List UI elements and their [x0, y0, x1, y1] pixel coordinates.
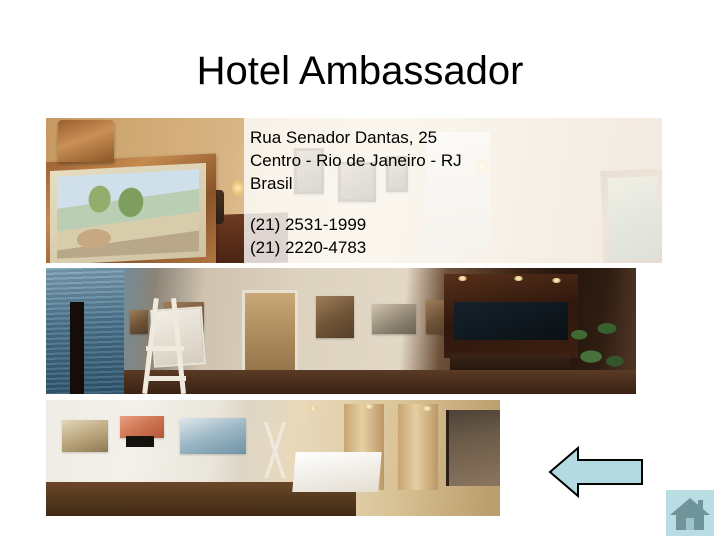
glass-entrance	[446, 410, 500, 486]
address-city: Centro - Rio de Janeiro - RJ	[250, 149, 580, 172]
painting-easel	[142, 298, 216, 394]
home-button[interactable]	[666, 490, 714, 536]
ceiling-light	[514, 276, 523, 281]
display-label	[126, 436, 154, 447]
wall-artwork	[316, 296, 354, 338]
address-spacer	[250, 195, 580, 213]
home-icon[interactable]	[666, 490, 714, 536]
wooden-object	[58, 120, 114, 162]
gallery-hall-photo	[46, 268, 636, 394]
presentation-slide: Hotel Ambassador Rua Senador Dantas, 25 …	[0, 0, 720, 540]
phone-number-1: (21) 2531-1999	[250, 213, 580, 236]
ceiling-light	[552, 278, 561, 283]
address-street: Rua Senador Dantas, 25	[250, 126, 580, 149]
exhibition-lobby-photo	[46, 400, 500, 516]
wall-painting	[62, 420, 108, 452]
ceiling-light	[308, 406, 318, 411]
table-lamp	[232, 180, 244, 196]
back-arrow-icon[interactable]	[548, 446, 644, 498]
address-country: Brasil	[250, 172, 580, 195]
ceiling-light	[422, 406, 432, 411]
back-arrow-button[interactable]	[548, 446, 644, 498]
blue-textured-wall	[46, 268, 124, 394]
dark-post	[70, 302, 84, 394]
lobby-column	[398, 404, 438, 490]
glass-display-case	[454, 302, 568, 340]
photo-content-bot	[46, 400, 500, 516]
wall-painting	[120, 416, 164, 438]
photo-content-mid	[46, 268, 636, 394]
phone-number-2: (21) 2220-4783	[250, 236, 580, 259]
wall-artwork	[372, 304, 416, 334]
wall-painting	[180, 418, 246, 454]
ceiling-light	[364, 404, 374, 409]
framed-painting-large	[46, 153, 216, 263]
page-title: Hotel Ambassador	[0, 48, 720, 94]
painting-easel	[258, 422, 292, 478]
draped-table	[292, 452, 381, 492]
ceiling-light	[458, 276, 467, 281]
address-block: Rua Senador Dantas, 25 Centro - Rio de J…	[250, 126, 580, 259]
